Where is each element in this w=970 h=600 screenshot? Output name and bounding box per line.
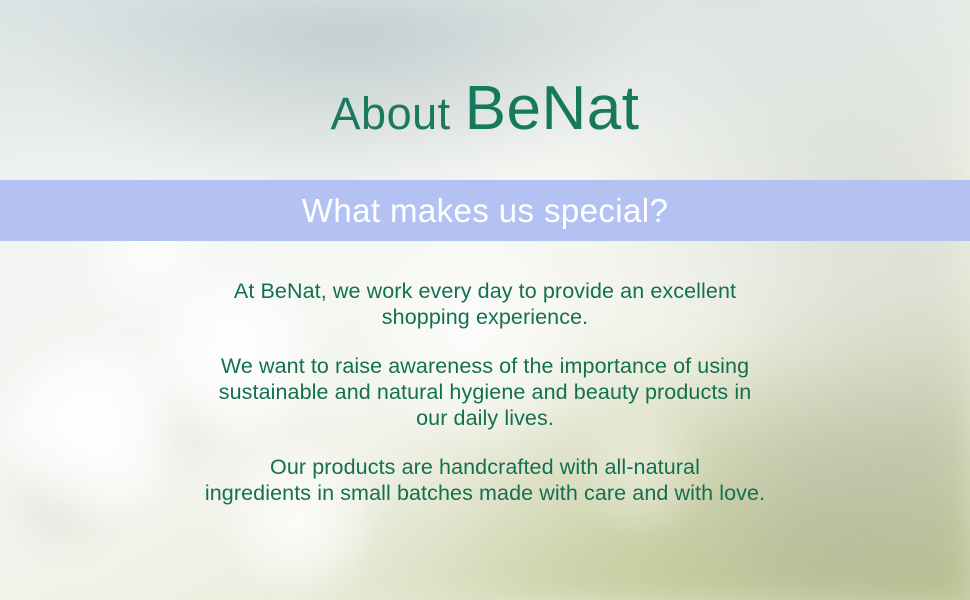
paragraph-handcrafted-products: Our products are handcrafted with all-na… (0, 454, 970, 506)
paragraph-line: We want to raise awareness of the import… (0, 353, 970, 379)
paragraph-line: sustainable and natural hygiene and beau… (0, 379, 970, 405)
paragraph-line: shopping experience. (0, 304, 970, 330)
paragraph-shopping-experience: At BeNat, we work every day to provide a… (0, 278, 970, 330)
brand-name: BeNat (465, 74, 640, 143)
paragraph-line: Our products are handcrafted with all-na… (0, 454, 970, 480)
paragraph-line: At BeNat, we work every day to provide a… (0, 278, 970, 304)
banner-content: AboutBeNat What makes us special? At BeN… (0, 0, 970, 600)
page-title-prefix: About (331, 88, 451, 139)
section-ribbon: What makes us special? (0, 180, 970, 241)
paragraph-sustainability-awareness: We want to raise awareness of the import… (0, 353, 970, 431)
about-copy: At BeNat, we work every day to provide a… (0, 278, 970, 506)
page-title: AboutBeNat (0, 78, 970, 140)
paragraph-line: our daily lives. (0, 405, 970, 431)
section-heading: What makes us special? (0, 191, 970, 230)
paragraph-line: ingredients in small batches made with c… (0, 480, 970, 506)
about-banner: AboutBeNat What makes us special? At BeN… (0, 0, 970, 600)
